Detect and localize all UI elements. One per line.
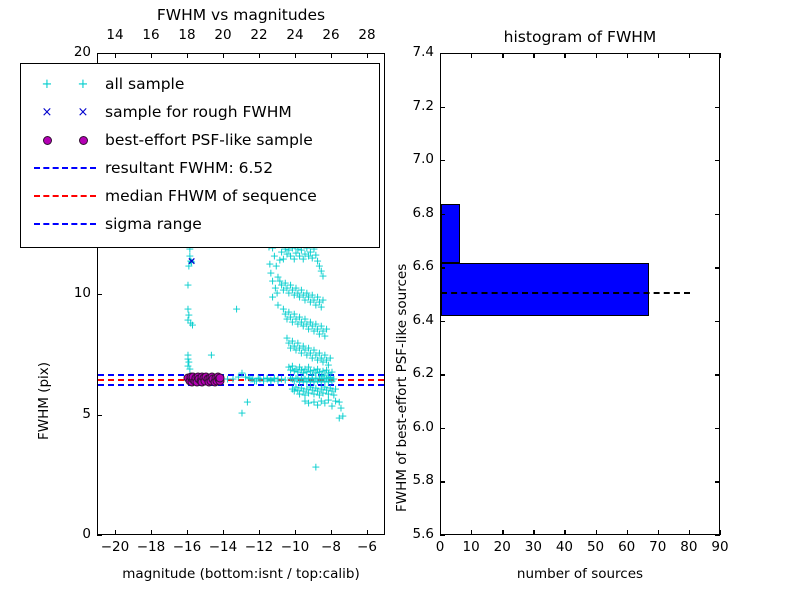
histogram-plot-area [440,53,720,535]
scatter-y-tick-label: 0 [51,526,91,542]
histogram-y-tick [440,214,445,215]
legend-row: best-effort PSF-like sample [29,126,369,154]
cross-icon: × [78,106,89,119]
circle-icon [79,136,88,145]
histogram-x-tick [533,530,534,535]
histogram-y-tick-label: 7.4 [388,44,434,60]
histogram-y-tick [440,428,445,429]
histogram-y-axis-label: FWHM of best-effort PSF-like sources [394,264,410,512]
all-sample-point: + [246,374,255,385]
all-sample-point: + [243,397,252,408]
histogram-y-tick-right [715,428,720,429]
histogram-x-tick-top [596,53,597,58]
legend-row: sigma range [29,210,369,238]
histogram-y-tick-label: 7.2 [388,98,434,114]
legend-marker [29,126,101,154]
scatter-x-tick [295,530,296,535]
scatter-y-tick [97,53,102,54]
histogram-x-tick [689,530,690,535]
histogram-y-tick [440,535,445,536]
plus-icon: + [42,78,53,91]
histogram-x-tick [471,530,472,535]
histogram-x-axis-label: number of sources [440,566,720,582]
histogram-y-tick-label: 5.6 [388,526,434,542]
legend-label: best-effort PSF-like sample [101,131,313,149]
histogram-x-tick-top [720,53,721,58]
scatter-top-tick [331,53,332,58]
legend-marker: ×× [29,98,101,126]
histogram-y-tick-right [715,214,720,215]
histogram-x-tick [627,530,628,535]
scatter-top-tick-label: 22 [239,27,279,43]
scatter-y-tick [97,415,102,416]
scatter-x-axis-label: magnitude (bottom:isnt / top:calib) [97,566,385,582]
scatter-top-tick [295,53,296,58]
histogram-y-tick-right [715,53,720,54]
histogram-y-tick [440,160,445,161]
histogram-x-tick [596,530,597,535]
all-sample-point: + [183,280,192,291]
histogram-y-tick-right [715,481,720,482]
all-sample-point: + [335,412,344,423]
legend-row: ××sample for rough FWHM [29,98,369,126]
all-sample-point: + [207,350,216,361]
dashed-line-icon [34,195,96,197]
all-sample-point: + [318,270,327,281]
histogram-y-tick [440,53,445,54]
scatter-top-tick [259,53,260,58]
histogram-x-tick [720,530,721,535]
scatter-y-axis-label: FWHM (pix) [36,362,52,440]
dashed-line-icon [34,167,96,169]
psf-sample-point [216,374,225,383]
cross-icon: × [42,106,53,119]
scatter-x-tick [187,530,188,535]
legend-label: all sample [101,75,184,93]
scatter-top-tick-label: 26 [311,27,351,43]
legend-row: ++all sample [29,70,369,98]
histogram-y-tick [440,267,445,268]
all-sample-point: + [318,294,327,305]
legend-row: resultant FWHM: 6.52 [29,154,369,182]
scatter-top-tick-label: 28 [347,27,387,43]
scatter-x-tick [115,530,116,535]
scatter-x-tick [151,530,152,535]
histogram-y-tick-right [715,267,720,268]
histogram-y-tick [440,107,445,108]
legend-marker [29,182,101,210]
histogram-x-tick [564,530,565,535]
circle-icon [43,136,52,145]
scatter-top-tick-label: 24 [275,27,315,43]
scatter-top-tick-label: 18 [167,27,207,43]
histogram-y-tick-right [715,107,720,108]
histogram-x-tick-label: 90 [700,539,740,555]
histogram-reference-line [441,292,690,294]
scatter-top-tick-label: 20 [203,27,243,43]
scatter-top-tick [367,53,368,58]
histogram-y-tick [440,374,445,375]
plus-icon: + [78,78,89,91]
histogram-x-tick-top [627,53,628,58]
histogram-y-tick-right [715,535,720,536]
histogram-x-tick [502,530,503,535]
histogram-y-tick-label: 7.0 [388,151,434,167]
scatter-y-tick-label: 10 [51,285,91,301]
legend-label: median FHWM of sequence [101,187,317,205]
scatter-x-tick [259,530,260,535]
all-sample-point: + [188,320,197,331]
legend-marker [29,154,101,182]
histogram-y-tick [440,321,445,322]
histogram-y-tick-right [715,321,720,322]
scatter-top-tick-label: 14 [95,27,135,43]
rough-sample-point: × [187,256,196,267]
histogram-y-tick [440,481,445,482]
scatter-x-tick [223,530,224,535]
scatter-x-tick-label: −6 [345,539,389,555]
histogram-x-tick-top [658,53,659,58]
scatter-y-tick [97,535,102,536]
legend-label: resultant FWHM: 6.52 [101,159,273,177]
histogram-x-tick [658,530,659,535]
histogram-x-tick-top [502,53,503,58]
legend-row: median FHWM of sequence [29,182,369,210]
legend-label: sample for rough FWHM [101,103,292,121]
scatter-top-tick [115,53,116,58]
scatter-top-tick [187,53,188,58]
scatter-x-tick [367,530,368,535]
histogram-y-tick-right [715,374,720,375]
legend-marker: ++ [29,70,101,98]
plot-legend: ++all sample××sample for rough FWHMbest-… [20,63,380,248]
all-sample-point: + [237,408,246,419]
histogram-x-tick-top [471,53,472,58]
scatter-x-tick [331,530,332,535]
legend-label: sigma range [101,215,202,233]
histogram-x-tick-top [564,53,565,58]
scatter-reference-line [98,384,384,386]
scatter-top-tick [151,53,152,58]
legend-marker [29,210,101,238]
histogram-y-tick-label: 6.8 [388,205,434,221]
scatter-top-tick-label: 16 [131,27,171,43]
all-sample-point: + [322,323,331,334]
histogram-bar [441,263,649,317]
scatter-plot-title: FWHM vs magnitudes [97,6,385,24]
histogram-title: histogram of FWHM [440,28,720,46]
histogram-y-tick-right [715,160,720,161]
scatter-y-tick [97,294,102,295]
scatter-top-tick [223,53,224,58]
all-sample-point: + [311,462,320,473]
all-sample-point: + [326,352,335,363]
histogram-x-tick-top [689,53,690,58]
dashdot-line-icon [34,223,96,225]
all-sample-point: + [232,304,241,315]
histogram-x-tick-top [533,53,534,58]
scatter-y-tick-label: 20 [51,44,91,60]
scatter-y-tick-label: 5 [51,406,91,422]
